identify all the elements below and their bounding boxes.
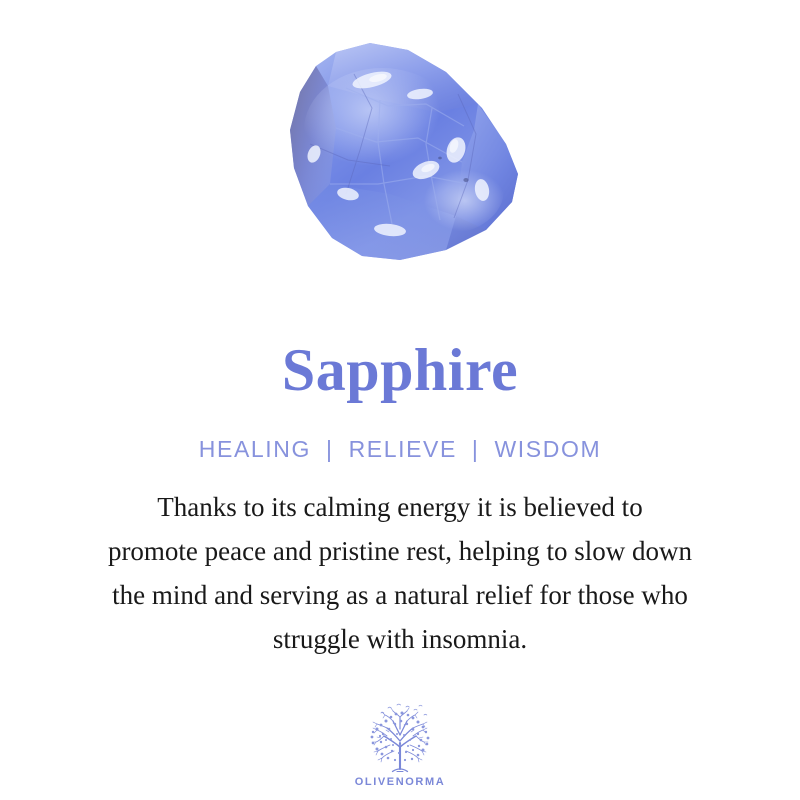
rough-sapphire-crystal-graphic: [250, 34, 550, 284]
keyword-healing: HEALING: [199, 436, 311, 462]
brand-logo: OLIVENORMA: [0, 701, 800, 788]
keyword-wisdom: WISDOM: [495, 436, 602, 462]
description-line-1: Thanks to its calming energy it is belie…: [20, 485, 780, 529]
brand-wordmark: OLIVENORMA: [355, 776, 446, 788]
keyword-separator-1: |: [319, 436, 341, 462]
sapphire-product-card: Sapphire HEALING | RELIEVE | WISDOM Than…: [0, 0, 800, 800]
rough-sapphire-crystal: [250, 34, 550, 284]
page-title: Sapphire: [282, 310, 518, 400]
keyword-separator-2: |: [465, 436, 487, 462]
description-line-3: the mind and serving as a natural relief…: [20, 573, 780, 617]
tree-of-life-icon: [357, 701, 443, 775]
keyword-list: HEALING | RELIEVE | WISDOM: [199, 400, 601, 463]
product-description: Thanks to its calming energy it is belie…: [20, 463, 780, 661]
product-image-area: [0, 0, 800, 310]
description-line-2: promote peace and pristine rest, helping…: [20, 529, 780, 573]
description-line-4: struggle with insomnia.: [20, 617, 780, 661]
keyword-relieve: RELIEVE: [349, 436, 457, 462]
